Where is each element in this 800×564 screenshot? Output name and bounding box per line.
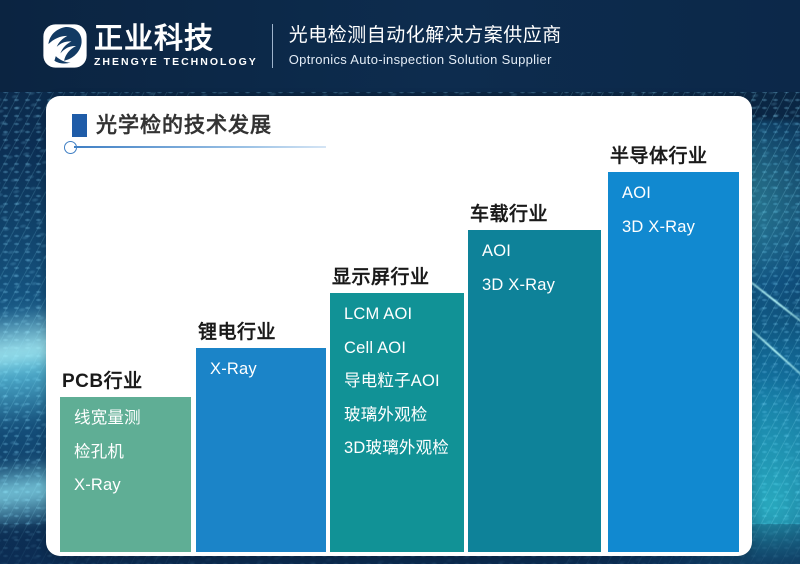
bar-group-5[interactable]: 半导体行业AOI3D X-Ray: [608, 172, 739, 552]
bar-category-label: 显示屏行业: [332, 268, 430, 287]
brand-wordmark: 正业科技 ZHENGYE TECHNOLOGY: [94, 25, 258, 67]
brand-name-en: ZHENGYE TECHNOLOGY: [94, 57, 258, 68]
bar-item-label: X-Ray: [74, 477, 191, 494]
bar-item-label: Cell AOI: [344, 340, 464, 357]
bar-item-label: 3D X-Ray: [622, 219, 739, 236]
header-slogan: 光电检测自动化解决方案供应商 Optronics Auto-inspection…: [289, 24, 562, 68]
slogan-en: Optronics Auto-inspection Solution Suppl…: [289, 51, 562, 69]
bar-item-label: 检孔机: [74, 444, 191, 461]
bar-rect[interactable]: AOI3D X-Ray: [608, 172, 739, 552]
bar-group-3[interactable]: 显示屏行业LCM AOICell AOI导电粒子AOI玻璃外观检3D玻璃外观检: [330, 293, 464, 552]
bar-category-label: 半导体行业: [610, 147, 708, 166]
bar-item-label: 导电粒子AOI: [344, 373, 464, 390]
industry-bar-chart: PCB行业线宽量测检孔机X-Ray锂电行业X-Ray显示屏行业LCM AOICe…: [46, 96, 752, 556]
bar-item-label: AOI: [482, 243, 601, 260]
bar-rect[interactable]: LCM AOICell AOI导电粒子AOI玻璃外观检3D玻璃外观检: [330, 293, 464, 552]
brand-logo[interactable]: 正业科技 ZHENGYE TECHNOLOGY: [42, 23, 258, 69]
page-header: 正业科技 ZHENGYE TECHNOLOGY 光电检测自动化解决方案供应商 O…: [0, 0, 800, 92]
slogan-cn: 光电检测自动化解决方案供应商: [289, 24, 562, 48]
bar-item-label: 3D X-Ray: [482, 277, 601, 294]
bar-item-label: AOI: [622, 185, 739, 202]
bar-item-label: X-Ray: [210, 361, 326, 378]
content-panel: 光学检的技术发展 PCB行业线宽量测检孔机X-Ray锂电行业X-Ray显示屏行业…: [46, 96, 752, 556]
zhengye-swirl-logo-icon: [42, 23, 88, 69]
bar-group-2[interactable]: 锂电行业X-Ray: [196, 348, 326, 552]
bar-group-4[interactable]: 车载行业AOI3D X-Ray: [468, 230, 601, 552]
bar-group-1[interactable]: PCB行业线宽量测检孔机X-Ray: [60, 397, 191, 552]
bar-category-label: 车载行业: [470, 205, 548, 224]
bar-rect[interactable]: 线宽量测检孔机X-Ray: [60, 397, 191, 552]
header-divider: [272, 24, 273, 68]
bar-item-label: 线宽量测: [74, 410, 191, 427]
bar-rect[interactable]: AOI3D X-Ray: [468, 230, 601, 552]
bar-item-label: LCM AOI: [344, 306, 464, 323]
bar-rect[interactable]: X-Ray: [196, 348, 326, 552]
brand-name-cn: 正业科技: [94, 25, 258, 55]
bar-category-label: 锂电行业: [198, 323, 276, 342]
bar-item-label: 玻璃外观检: [344, 407, 464, 424]
slide-canvas: 正业科技 ZHENGYE TECHNOLOGY 光电检测自动化解决方案供应商 O…: [0, 0, 800, 564]
bar-item-label: 3D玻璃外观检: [344, 440, 464, 457]
bar-category-label: PCB行业: [62, 372, 143, 391]
